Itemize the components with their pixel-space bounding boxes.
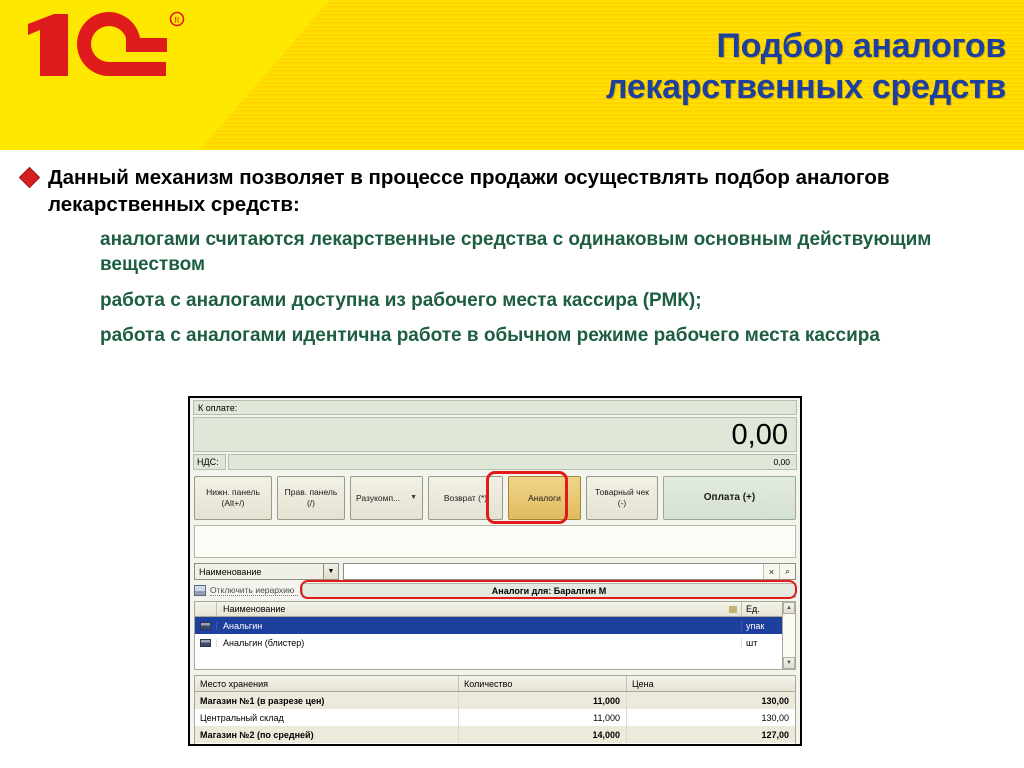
stock-price-cell: 130,00 bbox=[627, 709, 795, 726]
chevron-down-icon[interactable]: ▼ bbox=[323, 564, 338, 579]
search-field-selector-label: Наименование bbox=[199, 567, 261, 577]
return-button-label: Возврат (*) bbox=[444, 493, 487, 504]
table-row[interactable]: Центральный склад 11,000 130,00 bbox=[195, 709, 795, 726]
page-title-line-1: Подбор аналогов bbox=[306, 26, 1006, 67]
hierarchy-row: Отключить иерархию Аналоги для: Баралгин… bbox=[190, 580, 800, 598]
search-field-selector[interactable]: Наименование ▼ bbox=[194, 563, 339, 580]
stock-price-column-header[interactable]: Цена bbox=[627, 676, 795, 691]
disable-hierarchy-link[interactable]: Отключить иерархию bbox=[210, 585, 298, 596]
app-screenshot-panel: К оплате: 0,00 НДС: 0,00 Нижн. панель (A… bbox=[188, 396, 802, 746]
disassemble-button-label: Разукомп... bbox=[356, 493, 400, 504]
sub-bullet-item-1: аналогами считаются лекарственные средст… bbox=[77, 227, 998, 278]
table-row[interactable]: Анальгин (блистер) шт bbox=[195, 634, 782, 651]
stock-price-cell: 130,00 bbox=[627, 692, 795, 709]
stock-table: Место хранения Количество Цена Магазин №… bbox=[194, 675, 796, 746]
stock-place-cell: Магазин №1 (в разрезе цен) bbox=[195, 692, 459, 709]
payment-button-label: Оплата (+) bbox=[704, 492, 755, 505]
return-button[interactable]: Возврат (*) bbox=[428, 476, 503, 520]
triangle-bullet-icon bbox=[77, 296, 88, 310]
stock-price-cell: 127,00 bbox=[627, 726, 795, 743]
stock-place-cell: Основной склад магазина №2 bbox=[195, 743, 459, 746]
row-icon-cell bbox=[195, 622, 217, 630]
page-title-line-2: лекарственных средств bbox=[306, 67, 1006, 108]
search-input[interactable]: × ⌕ bbox=[343, 563, 796, 580]
to-pay-label: К оплате: bbox=[193, 400, 797, 415]
right-panel-button-label: Прав. панель (/) bbox=[285, 487, 338, 508]
right-panel-button[interactable]: Прав. панель (/) bbox=[277, 476, 345, 520]
analogs-button[interactable]: Аналоги bbox=[508, 476, 581, 520]
search-icon[interactable]: ⌕ bbox=[779, 564, 795, 579]
sub-bullet-item-2: работа с аналогами доступна из рабочего … bbox=[77, 288, 998, 313]
command-button-row: Нижн. панель (Alt+/) Прав. панель (/) Ра… bbox=[190, 470, 800, 525]
svg-text:R: R bbox=[174, 16, 180, 25]
hierarchy-icon[interactable] bbox=[194, 585, 206, 596]
stock-price-cell: 127,00 bbox=[627, 743, 795, 746]
stock-place-cell: Магазин №2 (по средней) bbox=[195, 726, 459, 743]
product-icon bbox=[200, 639, 211, 647]
triangle-bullet-icon bbox=[77, 235, 88, 249]
stock-place-cell: Центральный склад bbox=[195, 709, 459, 726]
product-icon bbox=[200, 622, 211, 630]
analogs-button-label: Аналоги bbox=[528, 493, 561, 504]
sort-ascending-icon bbox=[729, 606, 737, 613]
grid-unit-column-label: Ед. bbox=[746, 604, 760, 614]
slide-banner: R Подбор аналогов лекарственных средств bbox=[0, 0, 1024, 150]
row-name-cell: Анальгин bbox=[217, 621, 742, 631]
scroll-up-icon[interactable]: ▲ bbox=[783, 602, 795, 614]
clear-icon[interactable]: × bbox=[763, 564, 779, 579]
chevron-down-icon: ▼ bbox=[410, 494, 417, 503]
row-unit-cell: упак bbox=[742, 621, 782, 631]
vat-value: 0,00 bbox=[228, 454, 797, 470]
search-bar: Наименование ▼ × ⌕ bbox=[190, 558, 800, 580]
receipt-lines-area bbox=[194, 525, 796, 558]
sub-bullet-text-3: работа с аналогами идентична работе в об… bbox=[100, 323, 880, 348]
grid-empty-area bbox=[195, 651, 782, 669]
table-row[interactable]: Магазин №1 (в разрезе цен) 11,000 130,00 bbox=[195, 692, 795, 709]
row-icon-cell bbox=[195, 639, 217, 647]
main-bullet-item: Данный механизм позволяет в процессе про… bbox=[22, 164, 998, 219]
sub-bullet-item-3: работа с аналогами идентична работе в об… bbox=[77, 323, 998, 348]
sales-receipt-button[interactable]: Товарный чек (-) bbox=[586, 476, 658, 520]
main-bullet-text: Данный механизм позволяет в процессе про… bbox=[48, 164, 973, 219]
grid-name-column-label: Наименование bbox=[223, 604, 285, 614]
to-pay-value: 0,00 bbox=[732, 421, 788, 450]
disassemble-button[interactable]: Разукомп... ▼ bbox=[350, 476, 423, 520]
stock-qty-cell: 11,000 bbox=[459, 709, 627, 726]
table-row[interactable]: Основной склад магазина №2 14,000 127,00 bbox=[195, 743, 795, 746]
stock-qty-cell: 14,000 bbox=[459, 726, 627, 743]
payment-button[interactable]: Оплата (+) bbox=[663, 476, 796, 520]
row-unit-cell: шт bbox=[742, 638, 782, 648]
vat-row: НДС: 0,00 bbox=[193, 454, 797, 470]
diamond-bullet-icon bbox=[19, 167, 40, 188]
analogs-grid-header: Наименование Ед. bbox=[195, 602, 782, 617]
analogs-header: Аналоги для: Баралгин М bbox=[302, 583, 796, 598]
stock-table-header: Место хранения Количество Цена bbox=[195, 676, 795, 692]
to-pay-value-field: 0,00 bbox=[193, 417, 797, 452]
triangle-bullet-icon bbox=[77, 331, 88, 345]
lower-panel-button-label: Нижн. панель (Alt+/) bbox=[206, 487, 260, 508]
stock-qty-cell: 14,000 bbox=[459, 743, 627, 746]
analogs-grid-body: Наименование Ед. Анальгин упак Анальгин bbox=[195, 602, 782, 669]
slide-content: Данный механизм позволяет в процессе про… bbox=[0, 150, 1024, 349]
page-title: Подбор аналогов лекарственных средств bbox=[306, 26, 1006, 109]
grid-name-column-header[interactable]: Наименование bbox=[217, 602, 742, 616]
stock-place-column-header[interactable]: Место хранения bbox=[195, 676, 459, 691]
payment-summary: К оплате: 0,00 НДС: 0,00 bbox=[190, 398, 800, 470]
sub-bullet-list: аналогами считаются лекарственные средст… bbox=[77, 227, 998, 349]
grid-vertical-scrollbar[interactable]: ▲ ▼ bbox=[782, 602, 795, 669]
analogs-grid: Наименование Ед. Анальгин упак Анальгин bbox=[194, 601, 796, 670]
sub-bullet-text-1: аналогами считаются лекарственные средст… bbox=[100, 227, 940, 278]
grid-icon-column-header bbox=[195, 602, 217, 616]
onec-logo-icon: R bbox=[14, 8, 189, 82]
scroll-down-icon[interactable]: ▼ bbox=[783, 657, 795, 669]
vat-label: НДС: bbox=[193, 454, 226, 470]
stock-qty-cell: 11,000 bbox=[459, 692, 627, 709]
table-row[interactable]: Магазин №2 (по средней) 14,000 127,00 bbox=[195, 726, 795, 743]
grid-unit-column-header[interactable]: Ед. bbox=[742, 602, 782, 616]
row-name-cell: Анальгин (блистер) bbox=[217, 638, 742, 648]
table-row[interactable]: Анальгин упак bbox=[195, 617, 782, 634]
scrollbar-track[interactable] bbox=[783, 614, 795, 657]
lower-panel-button[interactable]: Нижн. панель (Alt+/) bbox=[194, 476, 272, 520]
sub-bullet-text-2: работа с аналогами доступна из рабочего … bbox=[100, 288, 702, 313]
stock-qty-column-header[interactable]: Количество bbox=[459, 676, 627, 691]
sales-receipt-button-label: Товарный чек (-) bbox=[595, 487, 649, 508]
